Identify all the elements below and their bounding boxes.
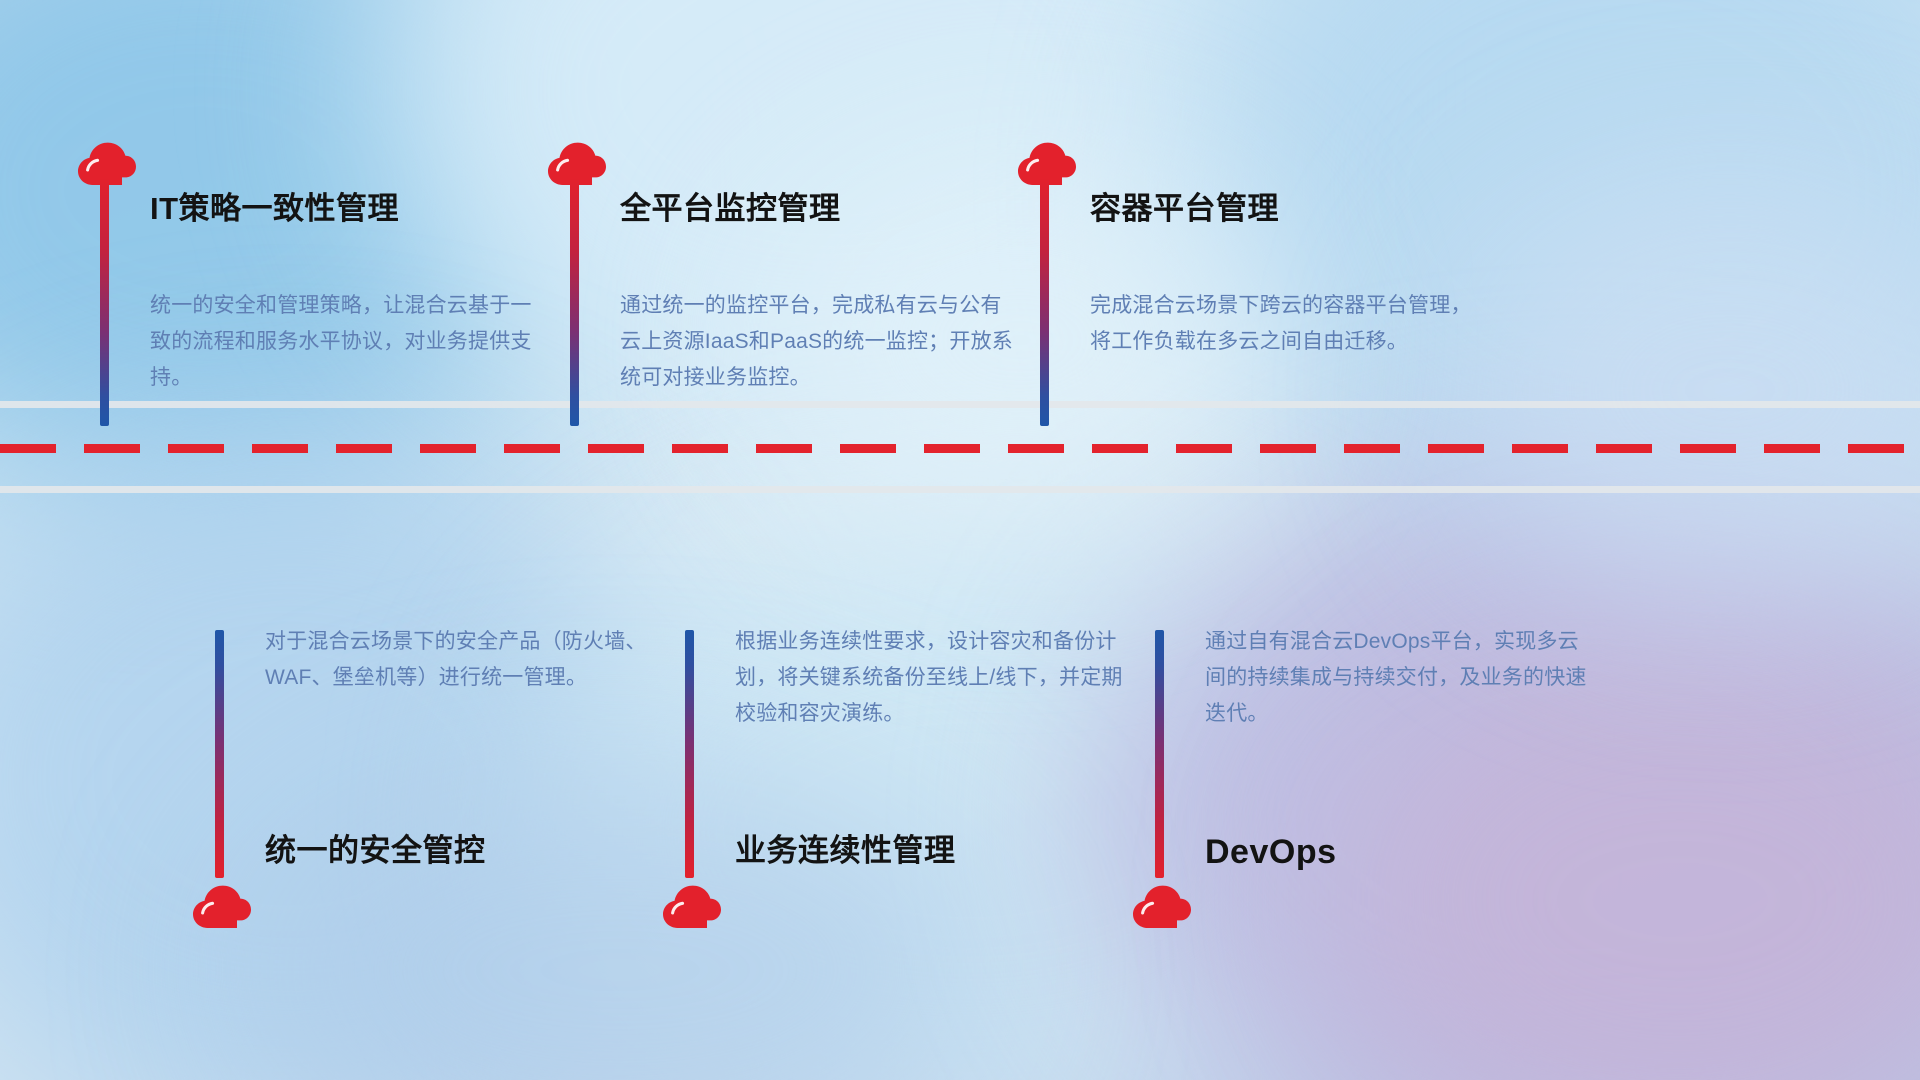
top-item-title: 全平台监控管理 — [620, 193, 841, 224]
top-item-description: 统一的安全和管理策略，让混合云基于一致的流程和服务水平协议，对业务提供支持。 — [150, 288, 545, 396]
connector-stem — [1155, 630, 1164, 878]
bottom-item-description: 根据业务连续性要求，设计容灾和备份计划，将关键系统备份至线上/线下，并定期校验和… — [735, 624, 1130, 732]
top-item-title: 容器平台管理 — [1090, 193, 1279, 224]
background — [0, 0, 1920, 1080]
connector-stem — [1040, 178, 1049, 426]
top-item-description: 通过统一的监控平台，完成私有云与公有云上资源IaaS和PaaS的统一监控；开放系… — [620, 288, 1015, 396]
connector-stem — [570, 178, 579, 426]
bottom-item-title: 业务连续性管理 — [735, 835, 956, 866]
top-item-title: IT策略一致性管理 — [150, 193, 399, 224]
cloud-icon — [191, 883, 251, 929]
top-item-description: 完成混合云场景下跨云的容器平台管理，将工作负载在多云之间自由迁移。 — [1090, 288, 1485, 360]
cloud-icon — [661, 883, 721, 929]
bottom-item-title: 统一的安全管控 — [265, 835, 486, 866]
divider-line-upper — [0, 401, 1920, 408]
divider-line-lower — [0, 486, 1920, 493]
connector-stem — [215, 630, 224, 878]
dashed-timeline-axis — [0, 444, 1920, 453]
bottom-item-description: 通过自有混合云DevOps平台，实现多云间的持续集成与持续交付，及业务的快速迭代… — [1205, 624, 1600, 732]
connector-stem — [685, 630, 694, 878]
connector-stem — [100, 178, 109, 426]
bottom-item-description: 对于混合云场景下的安全产品（防火墙、WAF、堡垒机等）进行统一管理。 — [265, 624, 660, 696]
bottom-item-title: DevOps — [1205, 835, 1337, 869]
cloud-icon — [1131, 883, 1191, 929]
